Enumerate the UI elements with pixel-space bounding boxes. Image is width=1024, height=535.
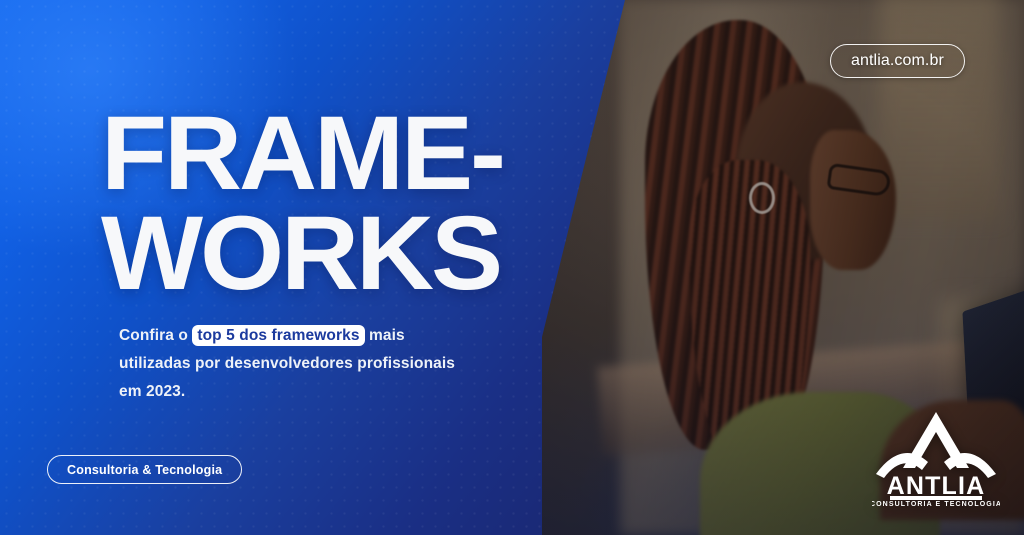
logo-wordmark: ANTLIA [887,472,986,500]
category-pill[interactable]: Consultoria & Tecnologia [47,455,242,484]
subcopy: Confira o top 5 dos frameworks mais util… [119,322,459,406]
website-url-pill[interactable]: antlia.com.br [830,44,965,78]
subcopy-highlight: top 5 dos frameworks [192,325,364,346]
antlia-logo[interactable]: ANTLIA CONSULTORIA E TECNOLOGIA [872,408,1000,506]
promo-banner: FRAME- WORKS Confira o top 5 dos framewo… [0,0,1024,535]
logo-tagline: CONSULTORIA E TECNOLOGIA [872,501,1000,506]
subcopy-before: Confira o [119,327,192,344]
logo-bar [890,496,982,500]
page-title: FRAME- WORKS [101,104,503,304]
